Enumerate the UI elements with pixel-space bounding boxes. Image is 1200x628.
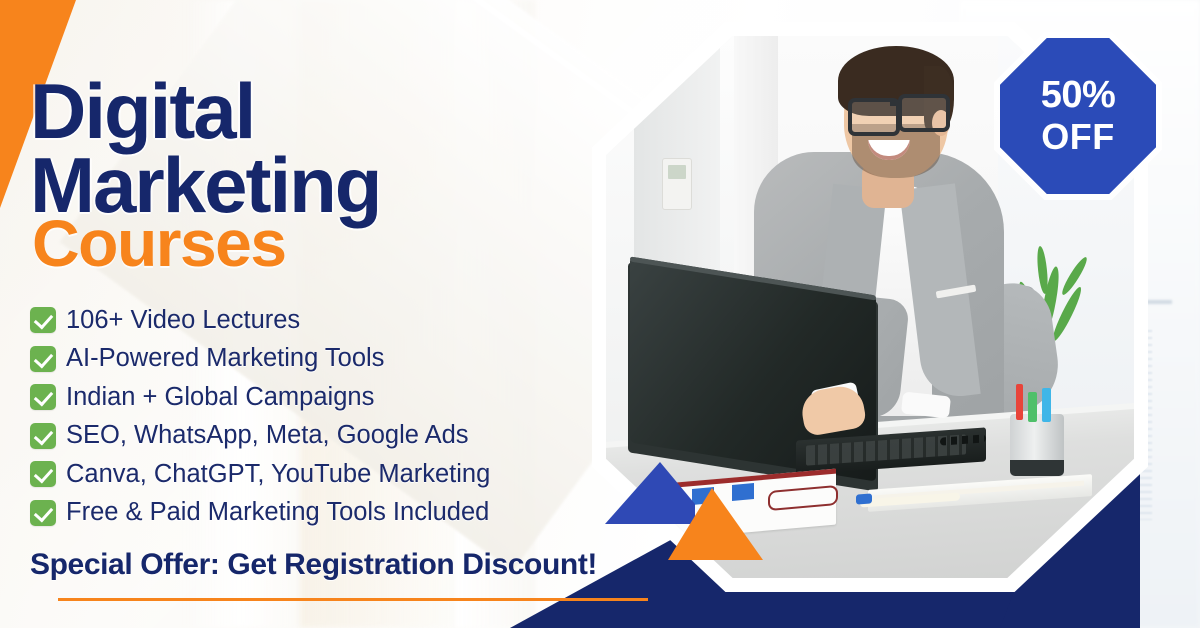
photo-eyeglass-right — [898, 94, 950, 132]
check-icon — [30, 384, 56, 410]
feature-label: AI-Powered Marketing Tools — [66, 344, 384, 373]
discount-badge[interactable]: 50% OFF — [1000, 38, 1156, 194]
list-item: AI-Powered Marketing Tools — [30, 342, 610, 376]
page-subtitle: Courses — [32, 205, 286, 281]
photo-clipboard-square-2 — [732, 483, 754, 501]
check-icon — [30, 461, 56, 487]
discount-percent: 50% — [1041, 76, 1116, 115]
list-item: Free & Paid Marketing Tools Included — [30, 496, 610, 530]
feature-label: 106+ Video Lectures — [66, 306, 300, 335]
feature-label: Free & Paid Marketing Tools Included — [66, 498, 489, 527]
photo-marker-cap — [856, 493, 872, 504]
check-icon — [30, 500, 56, 526]
photo-pen-cup-base — [1010, 460, 1064, 476]
discount-label: OFF — [1041, 119, 1114, 156]
check-icon — [30, 423, 56, 449]
check-icon — [30, 307, 56, 333]
promo-banner: 50% OFF Digital Marketing Courses 106+ V… — [0, 0, 1200, 628]
check-icon — [30, 346, 56, 372]
photo-thermostat — [662, 158, 692, 210]
photo-pen-green — [1028, 392, 1037, 422]
list-item: Canva, ChatGPT, YouTube Marketing — [30, 457, 610, 491]
list-item: Indian + Global Campaigns — [30, 380, 610, 414]
offer-underline — [58, 598, 648, 601]
photo-pen-blue — [1042, 388, 1051, 422]
feature-label: SEO, WhatsApp, Meta, Google Ads — [66, 421, 469, 450]
page-title: Digital Marketing — [30, 74, 590, 222]
feature-label: Canva, ChatGPT, YouTube Marketing — [66, 460, 490, 489]
banner-content: Digital Marketing Courses 106+ Video Lec… — [0, 0, 620, 628]
list-item: 106+ Video Lectures — [30, 303, 610, 337]
special-offer-text: Special Offer: Get Registration Discount… — [30, 548, 597, 582]
feature-list: 106+ Video Lectures AI-Powered Marketing… — [30, 303, 610, 534]
photo-eyeglass-bridge — [890, 102, 902, 106]
feature-label: Indian + Global Campaigns — [66, 383, 374, 412]
photo-pen-red — [1016, 384, 1023, 420]
list-item: SEO, WhatsApp, Meta, Google Ads — [30, 419, 610, 453]
